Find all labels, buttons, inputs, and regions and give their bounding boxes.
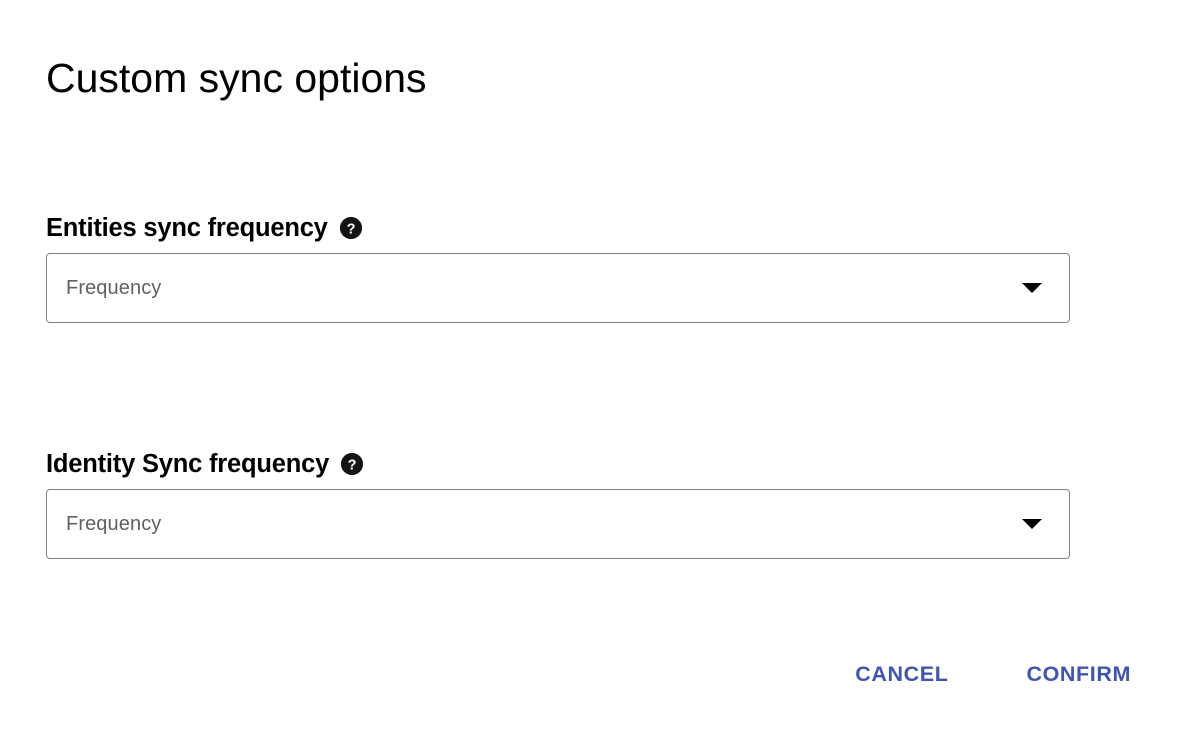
custom-sync-options-dialog: Custom sync options Entities sync freque… bbox=[0, 0, 1196, 741]
chevron-down-icon[interactable] bbox=[1022, 519, 1042, 529]
entities-sync-frequency-select[interactable]: Frequency bbox=[46, 253, 1070, 323]
help-circle-icon[interactable]: ? bbox=[340, 217, 362, 239]
identity-sync-frequency-label: Identity Sync frequency bbox=[46, 449, 329, 479]
field-entities-sync-frequency: Entities sync frequency ? Frequency bbox=[46, 208, 1070, 323]
chevron-down-icon[interactable] bbox=[1022, 283, 1042, 293]
identity-sync-frequency-select-value: Frequency bbox=[47, 512, 1069, 536]
cancel-button[interactable]: CANCEL bbox=[843, 653, 960, 695]
dialog-actions: CANCEL CONFIRM bbox=[843, 653, 1143, 695]
help-circle-icon[interactable]: ? bbox=[341, 453, 363, 475]
field-label-row: Entities sync frequency ? bbox=[46, 208, 1070, 248]
confirm-button[interactable]: CONFIRM bbox=[1014, 653, 1143, 695]
svg-text:?: ? bbox=[346, 221, 355, 237]
identity-sync-frequency-select[interactable]: Frequency bbox=[46, 489, 1070, 559]
field-identity-sync-frequency: Identity Sync frequency ? Frequency bbox=[46, 444, 1070, 559]
svg-text:?: ? bbox=[348, 457, 357, 473]
field-label-row: Identity Sync frequency ? bbox=[46, 444, 1070, 484]
entities-sync-frequency-label: Entities sync frequency bbox=[46, 213, 328, 243]
entities-sync-frequency-select-value: Frequency bbox=[47, 276, 1069, 300]
dialog-title: Custom sync options bbox=[46, 52, 427, 104]
